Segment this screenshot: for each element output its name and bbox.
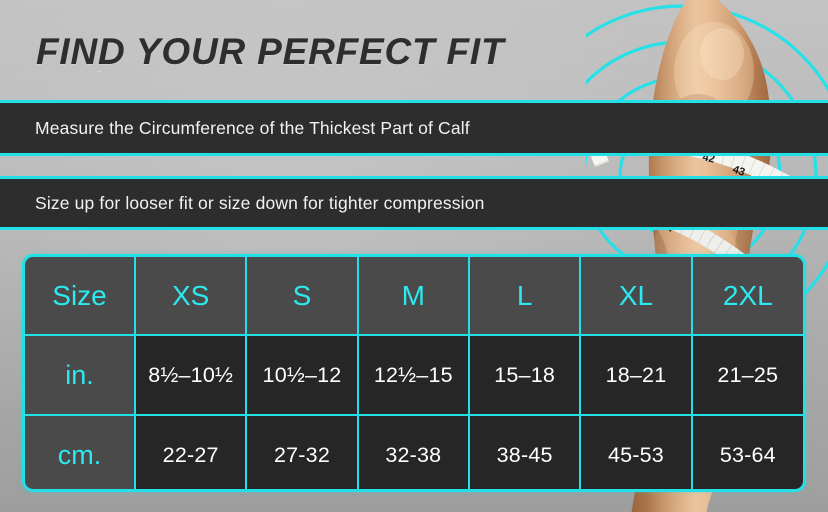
table-row-inches: in. 8½–10½ 10½–12 12½–15 15–18 18–21 21–… bbox=[25, 335, 803, 415]
cell-inches-m: 12½–15 bbox=[358, 335, 469, 415]
header-cell-xl: XL bbox=[580, 257, 691, 335]
cell-inches-s: 10½–12 bbox=[246, 335, 357, 415]
header-cell-m: M bbox=[358, 257, 469, 335]
cell-cm-m: 32-38 bbox=[358, 415, 469, 492]
instruction-bar-sizing: Size up for looser fit or size down for … bbox=[0, 176, 828, 230]
cell-cm-xl: 45-53 bbox=[580, 415, 691, 492]
cell-cm-l: 38-45 bbox=[469, 415, 580, 492]
cell-cm-2xl: 53-64 bbox=[692, 415, 803, 492]
header-cell-s: S bbox=[246, 257, 357, 335]
header-cell-l: L bbox=[469, 257, 580, 335]
header-cell-xs: XS bbox=[135, 257, 246, 335]
table-row-cm: cm. 22-27 27-32 32-38 38-45 45-53 53-64 bbox=[25, 415, 803, 492]
row-label-cm: cm. bbox=[25, 415, 135, 492]
table-header-row: Size XS S M L XL 2XL bbox=[25, 257, 803, 335]
cell-inches-2xl: 21–25 bbox=[692, 335, 803, 415]
header-cell-2xl: 2XL bbox=[692, 257, 803, 335]
page-title: FIND YOUR PERFECT FIT bbox=[36, 31, 504, 73]
size-chart-infographic: 39 38 39 40 41 42 43 44 45 24 25 26 27 1… bbox=[0, 0, 828, 512]
cell-cm-xs: 22-27 bbox=[135, 415, 246, 492]
size-chart-table: Size XS S M L XL 2XL in. 8½–10½ 10½–12 1… bbox=[22, 254, 806, 492]
instruction-text-measure: Measure the Circumference of the Thickes… bbox=[0, 118, 470, 139]
cell-inches-xl: 18–21 bbox=[580, 335, 691, 415]
instruction-bar-measure: Measure the Circumference of the Thickes… bbox=[0, 100, 828, 156]
instruction-text-sizing: Size up for looser fit or size down for … bbox=[0, 193, 484, 214]
cell-inches-xs: 8½–10½ bbox=[135, 335, 246, 415]
header-cell-size: Size bbox=[25, 257, 135, 335]
cell-cm-s: 27-32 bbox=[246, 415, 357, 492]
row-label-inches: in. bbox=[25, 335, 135, 415]
cell-inches-l: 15–18 bbox=[469, 335, 580, 415]
